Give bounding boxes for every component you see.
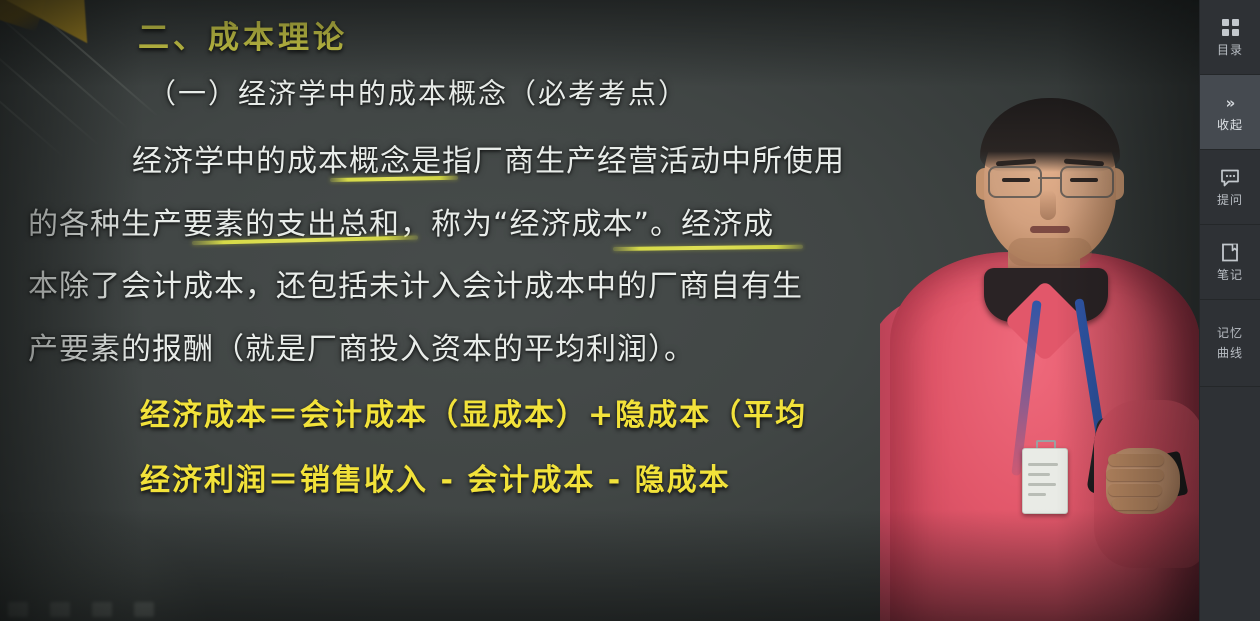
slide-content: 二、成本理论 （一）经济学中的成本概念（必考考点） 经济学中的成本概念是指厂商生…: [0, 0, 1000, 621]
chat-bubble-icon: [1220, 168, 1240, 188]
slide-formula-1: 经济成本＝会计成本（显成本）+隐成本（平均: [140, 390, 807, 434]
sidebar-item-memory-curve-label-1: 记忆: [1217, 326, 1243, 340]
slide-subheading: （一）经济学中的成本概念（必考考点）: [148, 72, 688, 112]
lecture-video-player: 二、成本理论 （一）经济学中的成本概念（必考考点） 经济学中的成本概念是指厂商生…: [0, 0, 1260, 621]
slide-heading: 二、成本理论: [138, 12, 348, 57]
right-toolbar: 目录 » 收起 提问: [1199, 0, 1260, 621]
sidebar-item-ask[interactable]: 提问: [1200, 150, 1260, 225]
sidebar-spacer: [1200, 387, 1260, 621]
sidebar-item-catalog[interactable]: 目录: [1200, 0, 1260, 75]
presenter-eye-left: [1002, 178, 1030, 182]
presenter-eye-right: [1070, 178, 1098, 182]
slide-body-line-3: 本除了会计成本，还包括未计入会计成本中的厂商自有生: [28, 261, 803, 305]
presenter-figure: [880, 0, 1200, 621]
sidebar-item-notes[interactable]: 笔记: [1200, 225, 1260, 300]
presenter-chin: [1008, 238, 1092, 266]
sidebar-item-collapse-label: 收起: [1217, 119, 1243, 132]
presenter-hand: [1106, 448, 1180, 514]
sidebar-item-memory-curve-label-2: 曲线: [1217, 346, 1243, 360]
slide-formula-2: 经济利润＝销售收入 - 会计成本 - 隐成本: [140, 455, 731, 499]
presenter-id-badge: [1022, 448, 1068, 514]
sidebar-item-memory-curve[interactable]: 记忆 曲线: [1200, 300, 1260, 387]
presenter-nose: [1040, 190, 1056, 220]
sidebar-item-catalog-label: 目录: [1217, 44, 1243, 57]
note-icon: [1220, 243, 1240, 263]
presenter-mouth: [1030, 226, 1070, 233]
highlight-underline-cost-concept: [330, 176, 458, 182]
sidebar-item-notes-label: 笔记: [1217, 269, 1243, 282]
video-stage[interactable]: 二、成本理论 （一）经济学中的成本概念（必考考点） 经济学中的成本概念是指厂商生…: [0, 0, 1200, 621]
sidebar-item-collapse[interactable]: » 收起: [1200, 75, 1260, 150]
highlight-underline-economic-cost: [613, 245, 803, 251]
slide-body-line-1: 经济学中的成本概念是指厂商生产经营活动中所使用: [132, 136, 845, 180]
sidebar-item-ask-label: 提问: [1217, 194, 1243, 207]
grid-icon: [1220, 18, 1240, 38]
chevron-double-right-icon: »: [1220, 93, 1240, 113]
slide-body-line-4: 产要素的报酬（就是厂商投入资本的平均利润）。: [28, 324, 695, 368]
